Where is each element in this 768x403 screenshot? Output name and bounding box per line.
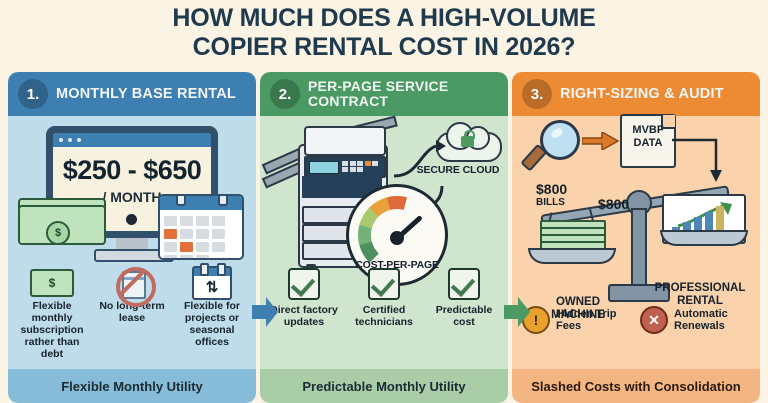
checkbox-icon bbox=[448, 268, 480, 300]
arrow-panel1-to-panel2 bbox=[252, 297, 278, 327]
benefit-item: Predictable cost bbox=[424, 268, 504, 328]
panel3-header: 3. RIGHT-SIZING & AUDIT bbox=[512, 72, 760, 116]
scale-pan-right bbox=[660, 230, 748, 246]
document-icon: MVBF DATA bbox=[620, 114, 676, 168]
title-line-2: COPIER RENTAL COST IN 2026? bbox=[0, 33, 768, 62]
benefit-item: Flexible monthly subscription rather tha… bbox=[12, 266, 92, 360]
benefit-label: Certified technicians bbox=[344, 304, 424, 328]
dollar-sign-icon: $ bbox=[46, 221, 70, 245]
title-line-1: HOW MUCH DOES A HIGH-VOLUME bbox=[172, 4, 595, 32]
magnifier-glare bbox=[550, 127, 564, 140]
copier-lcd bbox=[309, 161, 339, 174]
arrow-panel2-to-panel3 bbox=[504, 297, 530, 327]
window-dot-icon bbox=[68, 138, 72, 142]
panel3-body: MVBF DATA bbox=[512, 116, 760, 366]
panel2-header: 2. PER-PAGE SERVICE CONTRACT bbox=[260, 72, 508, 116]
gauge-hub bbox=[390, 231, 404, 245]
panel2-number-badge: 2. bbox=[270, 79, 300, 109]
warning-label: Automatic Renewals bbox=[674, 308, 748, 333]
panel2-body: SECURE CLOUD COST-PER-PAGE bbox=[260, 116, 508, 366]
checkbox-icon bbox=[288, 268, 320, 300]
scale-pan-left bbox=[528, 248, 616, 264]
calendar-ring-icon bbox=[218, 194, 228, 206]
checkbox-icon bbox=[368, 268, 400, 300]
panel1-number-badge: 1. bbox=[18, 79, 48, 109]
owned-cost-amount-alt: $800 bbox=[598, 196, 629, 212]
banknote: $ bbox=[18, 205, 106, 245]
panel-per-page-service-contract: 2. PER-PAGE SERVICE CONTRACT bbox=[260, 72, 508, 403]
magnifier-lens bbox=[540, 120, 580, 160]
page-title: HOW MUCH DOES A HIGH-VOLUME COPIER RENTA… bbox=[0, 4, 768, 62]
benefit-item: ⇅ Flexible for projects or seasonal offi… bbox=[172, 266, 252, 360]
arrow-right-icon bbox=[582, 132, 620, 150]
benefit-item: No long-term lease bbox=[92, 266, 172, 360]
owned-cost-amount: $800 BILLS bbox=[536, 182, 567, 210]
calendar-grid bbox=[164, 216, 238, 260]
calendar-sync-icon: ⇅ bbox=[172, 266, 252, 300]
infographic-page: HOW MUCH DOES A HIGH-VOLUME COPIER RENTA… bbox=[0, 0, 768, 403]
magnifier-icon bbox=[534, 120, 586, 172]
copier-control-panel bbox=[304, 156, 386, 178]
copier-scanner bbox=[304, 126, 386, 156]
lock-icon bbox=[461, 136, 474, 147]
panel-right-sizing-audit: 3. RIGHT-SIZING & AUDIT MVBF DATA bbox=[512, 72, 760, 403]
owned-cost-sub: BILLS bbox=[536, 196, 567, 210]
panel2-footer: Predictable Monthly Utility bbox=[260, 369, 508, 403]
panel-monthly-base-rental: 1. MONTHLY BASE RENTAL $250 - $650 / MON… bbox=[8, 72, 256, 403]
calendar-ring-icon bbox=[176, 194, 186, 206]
calendar-icon bbox=[158, 194, 244, 260]
panel2-heading: PER-PAGE SERVICE CONTRACT bbox=[308, 72, 502, 116]
calendar-header bbox=[160, 196, 242, 210]
panel3-footer: Slashed Costs with Consolidation bbox=[512, 369, 760, 403]
scale-post bbox=[631, 208, 647, 296]
panel1-header: 1. MONTHLY BASE RENTAL bbox=[8, 72, 256, 116]
price-range: $250 - $650 bbox=[53, 155, 211, 186]
scale-right-label: PROFESSIONAL RENTAL bbox=[648, 282, 752, 308]
copier-keypad bbox=[342, 161, 380, 172]
cash-stack-icon bbox=[540, 220, 602, 250]
window-dot-icon bbox=[77, 138, 81, 142]
document-label: MVBF DATA bbox=[622, 124, 674, 150]
panel3-warnings: ! Hidden Trip Fees ✕ Automatic Renewals bbox=[522, 306, 752, 334]
window-dot-icon bbox=[59, 138, 63, 142]
monitor-power-dot bbox=[126, 214, 137, 225]
benefit-label: Flexible monthly subscription rather tha… bbox=[12, 300, 92, 360]
panels-container: 1. MONTHLY BASE RENTAL $250 - $650 / MON… bbox=[8, 72, 760, 403]
cash-stack-icon: $ bbox=[18, 198, 102, 248]
panel1-body: $250 - $650 / MONTH $ bbox=[8, 116, 256, 366]
panel3-number-badge: 3. bbox=[522, 79, 552, 109]
benefit-item: Certified technicians bbox=[344, 268, 424, 328]
panel2-benefits: Direct factory updates Certified technic… bbox=[264, 268, 504, 328]
balance-scale-icon: $800 BILLS $800 OWNED MACHINE PROFESSION… bbox=[522, 172, 750, 302]
warning-label: Hidden Trip Fees bbox=[556, 308, 630, 333]
warning-item: ✕ Automatic Renewals bbox=[640, 306, 748, 334]
benefit-label: Predictable cost bbox=[424, 304, 504, 328]
panel1-heading: MONTHLY BASE RENTAL bbox=[56, 72, 250, 116]
error-x-icon: ✕ bbox=[640, 306, 668, 334]
panel1-benefits: Flexible monthly subscription rather tha… bbox=[12, 266, 252, 360]
benefit-label: Flexible for projects or seasonal office… bbox=[172, 300, 252, 348]
panel1-footer: Flexible Monthly Utility bbox=[8, 369, 256, 403]
no-lease-icon bbox=[92, 266, 172, 300]
warning-item: ! Hidden Trip Fees bbox=[522, 306, 630, 334]
money-bill-icon bbox=[12, 266, 92, 300]
panel3-heading: RIGHT-SIZING & AUDIT bbox=[560, 72, 754, 116]
